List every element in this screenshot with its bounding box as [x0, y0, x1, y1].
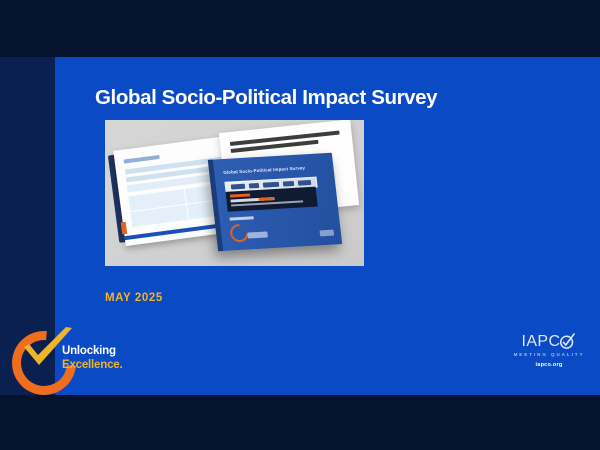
iapco-wordmark: IAPC [510, 333, 588, 350]
iapco-check-o-icon [559, 333, 576, 350]
slide-date: MAY 2025 [105, 292, 163, 304]
cover-date-line [229, 216, 253, 220]
letterbox-bottom [0, 395, 600, 450]
cover-title: Global Socio-Political Impact Survey [223, 164, 328, 175]
iapco-letters: IAPC [522, 334, 561, 350]
letterbox-top [0, 0, 600, 57]
slide-stage: Global Socio-Political Impact Survey [0, 0, 600, 450]
cover-iapco-logo [320, 230, 335, 237]
page-title: Global Socio-Political Impact Survey [95, 87, 565, 110]
printed-report-photo: Global Socio-Political Impact Survey [105, 120, 364, 266]
cover-brand-text [247, 231, 268, 238]
brand-line-2: Excellence. [62, 359, 122, 373]
iapco-url: iapco.org [510, 362, 588, 368]
report-cover: Global Socio-Political Impact Survey [208, 153, 342, 252]
presentation-slide: Global Socio-Political Impact Survey [0, 57, 600, 395]
cover-eyebrow-line [230, 193, 250, 197]
page-accent-tab [121, 222, 128, 235]
cover-dark-band [226, 187, 318, 212]
unlocking-excellence-logo: Unlocking Excellence. [0, 325, 160, 395]
brand-wordmark: Unlocking Excellence. [62, 345, 122, 372]
page-heading-line [124, 155, 160, 164]
iapco-logo: IAPC MEETING QUALITY iapco.org [510, 333, 588, 368]
iapco-tagline: MEETING QUALITY [510, 352, 588, 357]
brand-line-1: Unlocking [62, 345, 122, 359]
